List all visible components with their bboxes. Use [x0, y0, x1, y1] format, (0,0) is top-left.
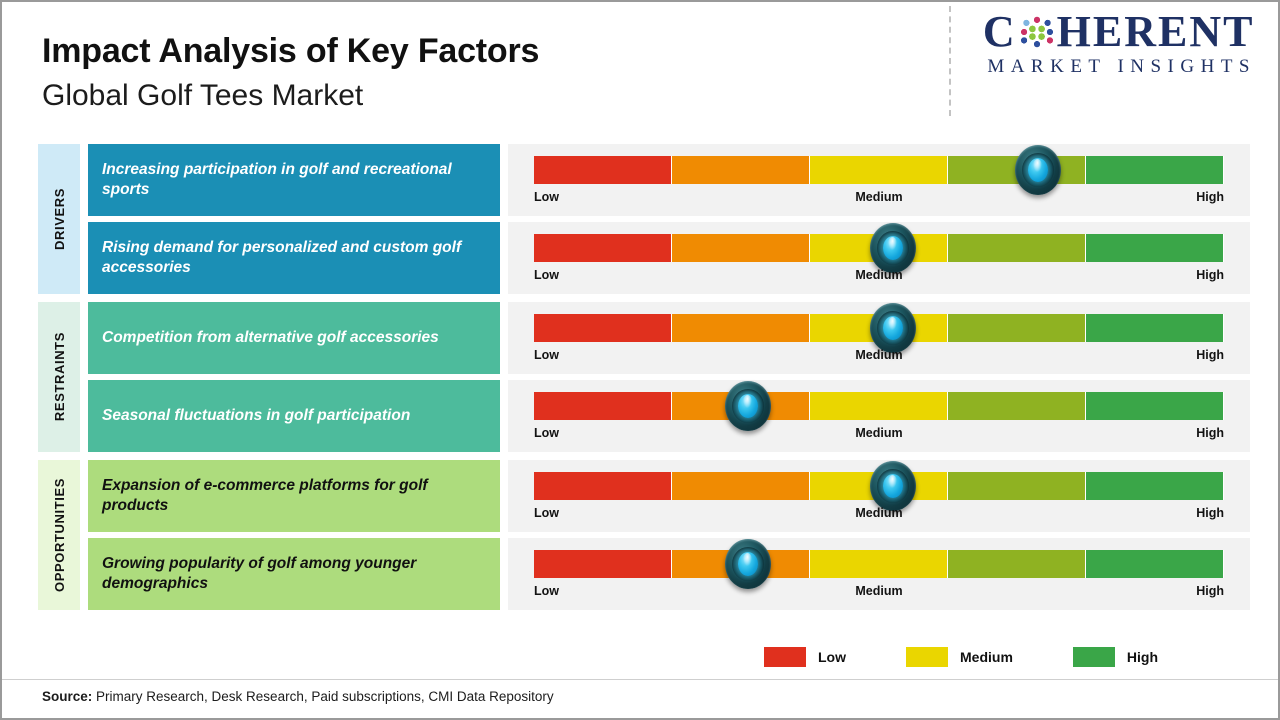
scale-label-medium: Medium: [855, 348, 902, 362]
logo-wordmark: C HERENT: [981, 10, 1256, 54]
impact-gauge: Low Medium High: [508, 460, 1250, 532]
scale-label-high: High: [1196, 584, 1224, 598]
scale-label-low: Low: [534, 268, 559, 282]
scale-label-high: High: [1196, 268, 1224, 282]
category-label-opportunities: OPPORTUNITIES: [52, 478, 67, 592]
gauge-bar: [534, 314, 1224, 342]
impact-gauge: Low Medium High: [508, 222, 1250, 294]
gauge-bar: [534, 550, 1224, 578]
segment-low-medium: [672, 234, 810, 262]
segment-low: [534, 156, 672, 184]
segment-low: [534, 472, 672, 500]
legend-item-high: High: [1073, 647, 1158, 667]
segment-low-medium: [672, 472, 810, 500]
factor-label-box: Increasing participation in golf and rec…: [88, 144, 500, 216]
category-label-drivers: DRIVERS: [52, 188, 67, 250]
page-subtitle: Global Golf Tees Market: [42, 77, 539, 115]
segment-high: [1086, 392, 1224, 420]
segment-high: [1086, 234, 1224, 262]
chart-legend: Low Medium High: [764, 647, 1158, 667]
segment-medium-high: [948, 156, 1086, 184]
impact-matrix: DRIVERS Increasing participation in golf…: [38, 144, 1250, 610]
factor-row: Rising demand for personalized and custo…: [88, 222, 1250, 294]
legend-label-medium: Medium: [960, 649, 1013, 665]
scale-label-low: Low: [534, 584, 559, 598]
scale-label-high: High: [1196, 426, 1224, 440]
category-label-restraints: RESTRAINTS: [52, 332, 67, 421]
gauge-bar: [534, 234, 1224, 262]
segment-high: [1086, 550, 1224, 578]
segment-medium: [810, 234, 948, 262]
factor-row: Seasonal fluctuations in golf participat…: [88, 380, 1250, 452]
legend-swatch-high: [1073, 647, 1115, 667]
segment-medium: [810, 472, 948, 500]
segment-high: [1086, 156, 1224, 184]
gauge-scale: Low Medium High: [534, 506, 1224, 532]
factor-label-box: Competition from alternative golf access…: [88, 302, 500, 374]
category-rows-drivers: Increasing participation in golf and rec…: [88, 144, 1250, 294]
segment-medium-high: [948, 392, 1086, 420]
factor-row: Increasing participation in golf and rec…: [88, 144, 1250, 216]
logo-divider: [949, 6, 951, 116]
legend-swatch-low: [764, 647, 806, 667]
factor-label-box: Seasonal fluctuations in golf participat…: [88, 380, 500, 452]
gauge-scale: Low Medium High: [534, 268, 1224, 294]
scale-label-medium: Medium: [855, 584, 902, 598]
scale-label-high: High: [1196, 506, 1224, 520]
segment-low: [534, 392, 672, 420]
scale-label-high: High: [1196, 190, 1224, 204]
segment-medium-high: [948, 550, 1086, 578]
segment-low: [534, 314, 672, 342]
legend-swatch-medium: [906, 647, 948, 667]
factor-label-box: Expansion of e-commerce platforms for go…: [88, 460, 500, 532]
segment-low-medium: [672, 550, 810, 578]
scale-label-medium: Medium: [855, 426, 902, 440]
category-rows-restraints: Competition from alternative golf access…: [88, 302, 1250, 452]
factor-label-box: Growing popularity of golf among younger…: [88, 538, 500, 610]
scale-label-low: Low: [534, 426, 559, 440]
impact-gauge: Low Medium High: [508, 144, 1250, 216]
segment-medium-high: [948, 234, 1086, 262]
segment-low-medium: [672, 314, 810, 342]
impact-gauge: Low Medium High: [508, 302, 1250, 374]
category-tab-restraints: RESTRAINTS: [38, 302, 80, 452]
scale-label-medium: Medium: [855, 190, 902, 204]
company-logo: C HERENT MARKET INSIGHTS: [981, 10, 1256, 78]
impact-gauge: Low Medium High: [508, 380, 1250, 452]
category-rows-opportunities: Expansion of e-commerce platforms for go…: [88, 460, 1250, 610]
source-line: Source: Primary Research, Desk Research,…: [42, 689, 554, 704]
category-group-drivers: DRIVERS Increasing participation in golf…: [38, 144, 1250, 294]
segment-high: [1086, 314, 1224, 342]
scale-label-high: High: [1196, 348, 1224, 362]
segment-low-medium: [672, 392, 810, 420]
segment-medium-high: [948, 472, 1086, 500]
gauge-bar: [534, 392, 1224, 420]
category-tab-drivers: DRIVERS: [38, 144, 80, 294]
scale-label-medium: Medium: [855, 268, 902, 282]
gauge-bar: [534, 472, 1224, 500]
source-label: Source:: [42, 689, 92, 704]
segment-medium: [810, 392, 948, 420]
legend-label-high: High: [1127, 649, 1158, 665]
scale-label-low: Low: [534, 506, 559, 520]
category-tab-opportunities: OPPORTUNITIES: [38, 460, 80, 610]
gauge-bar: [534, 156, 1224, 184]
gauge-scale: Low Medium High: [534, 348, 1224, 374]
source-text: Primary Research, Desk Research, Paid su…: [92, 689, 553, 704]
factor-row: Expansion of e-commerce platforms for go…: [88, 460, 1250, 532]
logo-letters-herent: HERENT: [1057, 10, 1255, 54]
gauge-scale: Low Medium High: [534, 426, 1224, 452]
scale-label-low: Low: [534, 190, 559, 204]
segment-medium: [810, 156, 948, 184]
factor-row: Competition from alternative golf access…: [88, 302, 1250, 374]
segment-low-medium: [672, 156, 810, 184]
legend-label-low: Low: [818, 649, 846, 665]
footer: Source: Primary Research, Desk Research,…: [2, 679, 1278, 718]
segment-medium-high: [948, 314, 1086, 342]
logo-tagline: MARKET INSIGHTS: [981, 56, 1256, 78]
factor-label-box: Rising demand for personalized and custo…: [88, 222, 500, 294]
globe-icon: [1018, 13, 1056, 51]
page-title: Impact Analysis of Key Factors: [42, 32, 539, 71]
scale-label-low: Low: [534, 348, 559, 362]
segment-medium: [810, 550, 948, 578]
segment-high: [1086, 472, 1224, 500]
segment-low: [534, 550, 672, 578]
title-block: Impact Analysis of Key Factors Global Go…: [42, 32, 539, 115]
gauge-scale: Low Medium High: [534, 584, 1224, 610]
impact-gauge: Low Medium High: [508, 538, 1250, 610]
segment-medium: [810, 314, 948, 342]
factor-row: Growing popularity of golf among younger…: [88, 538, 1250, 610]
scale-label-medium: Medium: [855, 506, 902, 520]
gauge-scale: Low Medium High: [534, 190, 1224, 216]
legend-item-medium: Medium: [906, 647, 1013, 667]
segment-low: [534, 234, 672, 262]
infographic-page: Impact Analysis of Key Factors Global Go…: [0, 0, 1280, 720]
legend-item-low: Low: [764, 647, 846, 667]
logo-letter-c: C: [983, 10, 1017, 54]
category-group-restraints: RESTRAINTS Competition from alternative …: [38, 302, 1250, 452]
category-group-opportunities: OPPORTUNITIES Expansion of e-commerce pl…: [38, 460, 1250, 610]
